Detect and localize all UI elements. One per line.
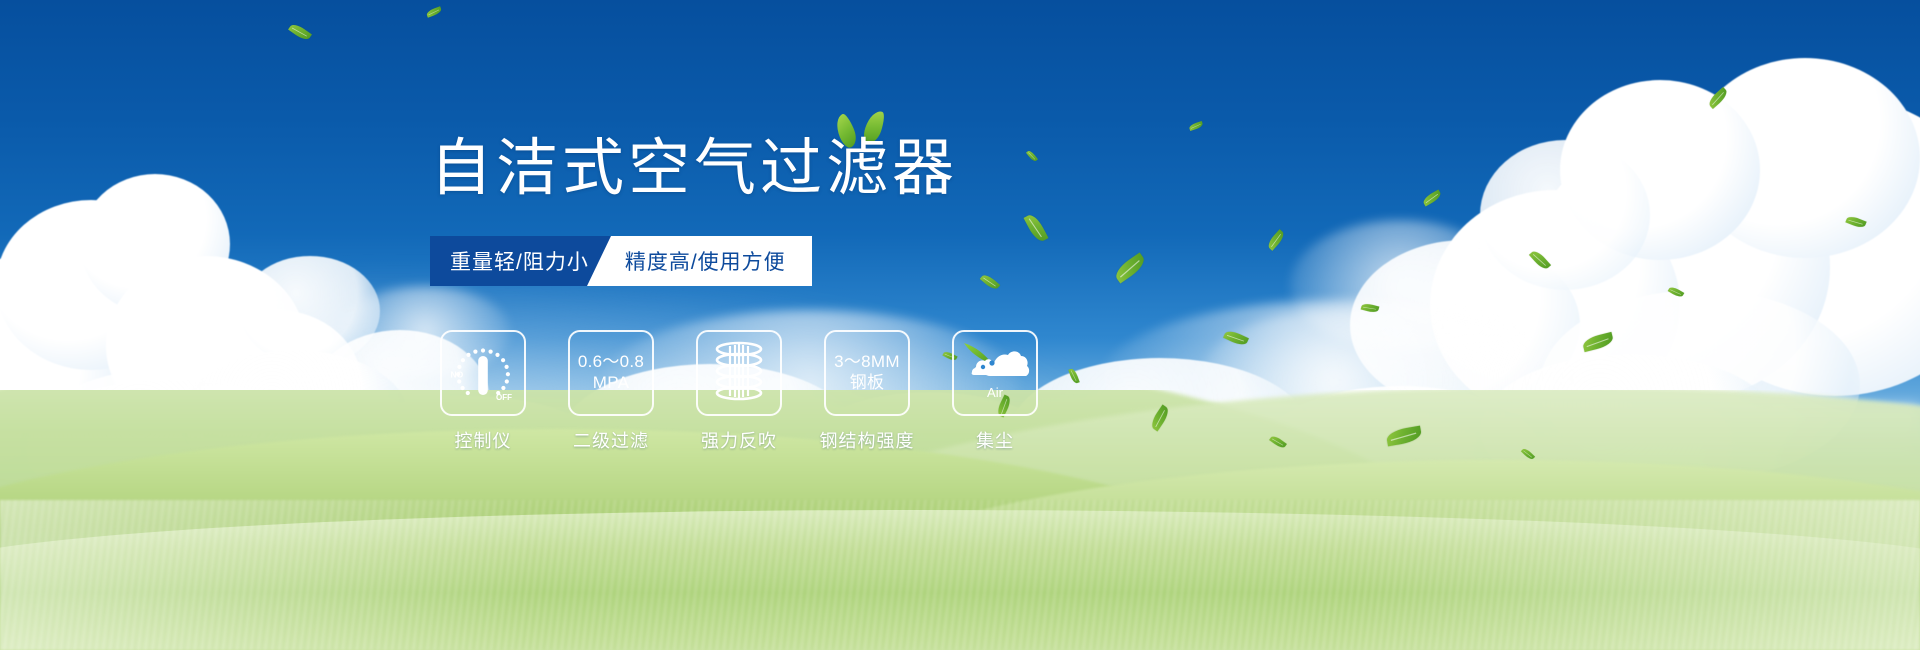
svg-text:OFF: OFF [496, 393, 512, 402]
feature-item-backflush[interactable]: 强力反吹 [696, 330, 782, 453]
feature-label: 钢结构强度 [820, 427, 915, 453]
banner-content: 自洁式空气过滤器 重量轻/阻力小 精度高/使用方便 [0, 0, 1920, 650]
feature-label: 控制仪 [455, 427, 512, 453]
tagline-tab-secondary[interactable]: 精度高/使用方便 [611, 236, 812, 286]
feature-item-controller[interactable]: NO OFF 控制仪 [440, 330, 526, 453]
hero-banner: 自洁式空气过滤器 重量轻/阻力小 精度高/使用方便 [0, 0, 1920, 650]
filter-cartridge-icon [708, 340, 770, 406]
tagline-tab-primary[interactable]: 重量轻/阻力小 [430, 236, 611, 286]
feature-label: 集尘 [976, 427, 1014, 453]
feature-icon-box: 0.6～0.8MPA [568, 330, 654, 416]
svg-text:NO: NO [451, 370, 464, 380]
feature-icon-box [696, 330, 782, 416]
feature-item-pressure[interactable]: 0.6～0.8MPA 二级过滤 [568, 330, 654, 453]
feature-label: 强力反吹 [701, 427, 777, 453]
air-cloud-icon: Air [956, 337, 1034, 409]
gauge-dial-icon: NO OFF [446, 336, 520, 410]
feature-label: 二级过滤 [573, 427, 649, 453]
feature-icon-box: NO OFF [440, 330, 526, 416]
feature-icon-text: 0.6～0.8MPA [578, 352, 644, 393]
svg-text:Air: Air [987, 385, 1004, 400]
feature-item-dust-collection[interactable]: Air 集尘 [952, 330, 1038, 453]
feature-icon-text: 3～8MM钢板 [834, 352, 900, 393]
feature-list: NO OFF 控制仪 0.6～0.8MPA 二级过滤 [440, 330, 1038, 453]
feature-item-steel[interactable]: 3～8MM钢板 钢结构强度 [824, 330, 910, 453]
feature-icon-box: Air [952, 330, 1038, 416]
page-title: 自洁式空气过滤器 [430, 138, 958, 200]
feature-icon-box: 3～8MM钢板 [824, 330, 910, 416]
tagline-tabs: 重量轻/阻力小 精度高/使用方便 [430, 236, 812, 286]
